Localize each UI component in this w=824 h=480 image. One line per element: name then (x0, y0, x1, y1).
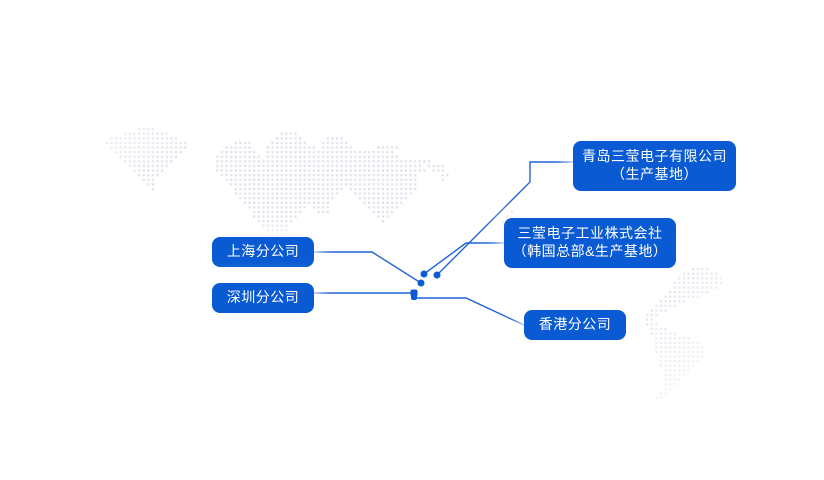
location-label-korea-line1: 三莹电子工业株式会社 (518, 225, 663, 243)
map-node-hongkong[interactable] (411, 294, 417, 300)
map-node-korea[interactable] (421, 271, 428, 278)
world-map-dots (0, 0, 824, 480)
map-node-shanghai[interactable] (418, 280, 425, 287)
location-label-shanghai-line1: 上海分公司 (227, 243, 300, 261)
location-label-qingdao[interactable]: 青岛三莹电子有限公司 （生产基地） (573, 141, 736, 191)
map-node-qingdao[interactable] (434, 272, 441, 279)
location-label-korea[interactable]: 三莹电子工业株式会社 （韩国总部&生产基地） (504, 218, 676, 268)
location-map-infographic: 青岛三莹电子有限公司 （生产基地） 三莹电子工业株式会社 （韩国总部&生产基地）… (0, 0, 824, 480)
location-label-shenzhen-line1: 深圳分公司 (227, 289, 300, 307)
location-label-shanghai[interactable]: 上海分公司 (212, 237, 314, 267)
location-label-korea-line2: （韩国总部&生产基地） (513, 243, 668, 261)
location-label-qingdao-line1: 青岛三莹电子有限公司 (582, 148, 727, 166)
location-label-qingdao-line2: （生产基地） (611, 166, 698, 184)
location-label-shenzhen[interactable]: 深圳分公司 (212, 283, 314, 313)
location-label-hongkong[interactable]: 香港分公司 (524, 310, 626, 340)
location-label-hongkong-line1: 香港分公司 (539, 316, 612, 334)
